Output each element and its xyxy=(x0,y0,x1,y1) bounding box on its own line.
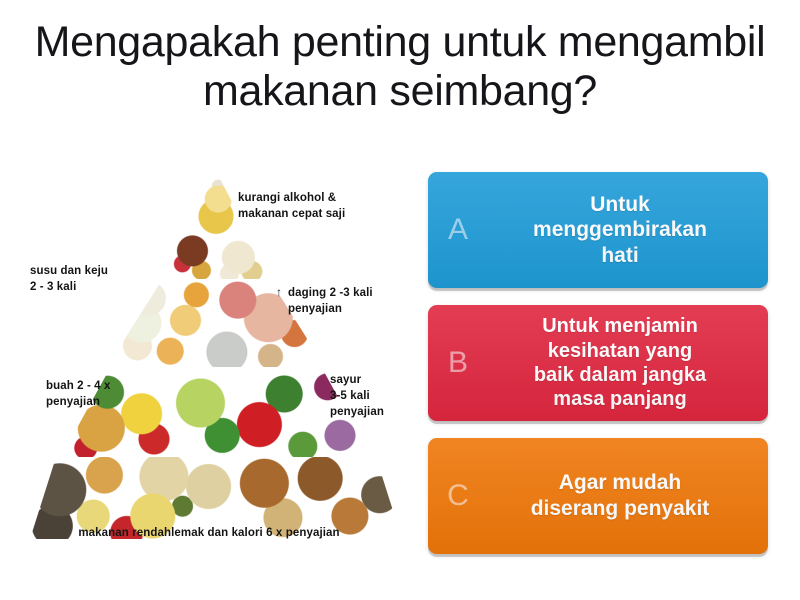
pointer-arrow-icon: ↑ xyxy=(276,285,282,299)
pyramid-label-meat: daging 2 -3 kali penyajian xyxy=(288,286,373,318)
answer-option-b[interactable]: B Untuk menjamin kesihatan yang baik dal… xyxy=(428,305,768,421)
answer-option-c[interactable]: C Agar mudah diserang penyakit xyxy=(428,438,768,554)
pyramid-label-top: kurangi alkohol & makanan cepat saji xyxy=(238,191,345,223)
answer-text-b: Untuk menjamin kesihatan yang baik dalam… xyxy=(488,314,768,412)
pyramid-label-fruit: buah 2 - 4 x penyajian xyxy=(46,379,110,411)
food-pyramid-image xyxy=(14,165,418,565)
answer-text-c: Agar mudah diserang penyakit xyxy=(488,470,768,521)
question-media-panel xyxy=(14,165,418,565)
answer-options-list: A Untuk menggembirakan hati B Untuk menj… xyxy=(428,172,768,571)
answer-option-a[interactable]: A Untuk menggembirakan hati xyxy=(428,172,768,288)
pyramid-tier-oils-sweets xyxy=(160,171,272,279)
answer-letter-a: A xyxy=(428,215,488,245)
pyramid-label-base: makanan rendahlemak dan kalori 6 x penya… xyxy=(0,526,418,542)
answer-letter-b: B xyxy=(428,348,488,378)
page-title: Mengapakah penting untuk mengambil makan… xyxy=(0,18,800,116)
answer-letter-c: C xyxy=(428,481,488,511)
quiz-slide: Mengapakah penting untuk mengambil makan… xyxy=(0,0,800,600)
pyramid-label-vegetables: sayur 3-5 kali penyajian xyxy=(330,373,384,421)
answer-text-a: Untuk menggembirakan hati xyxy=(488,192,768,269)
pyramid-label-dairy: susu dan keju 2 - 3 kali xyxy=(30,264,108,296)
